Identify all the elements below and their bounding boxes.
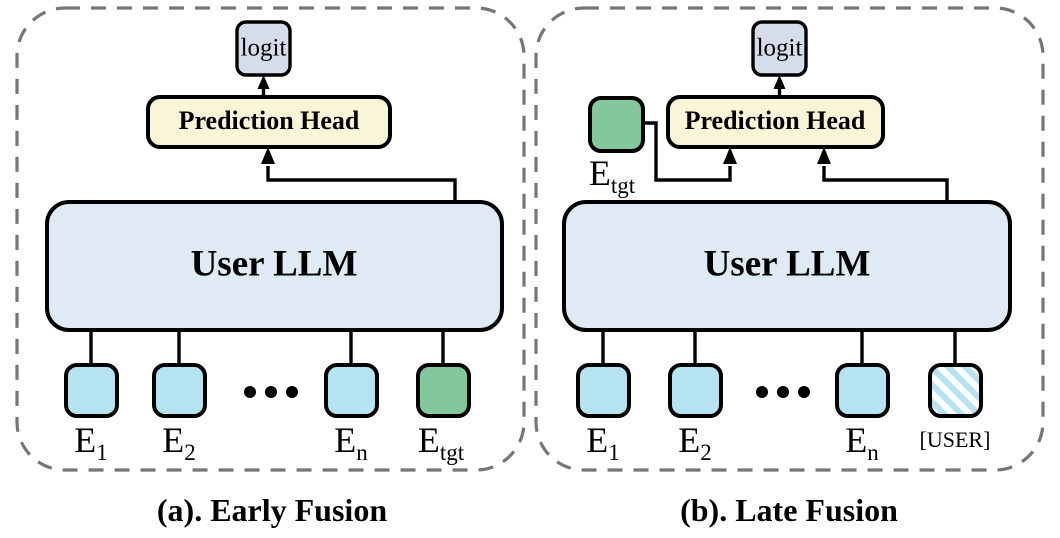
embedding-box — [154, 365, 205, 416]
panel-early-fusion: logit Prediction Head User LLM — [17, 8, 524, 528]
embedding-node-e1-late: E1 — [578, 365, 629, 465]
embedding-stems-late — [603, 330, 955, 365]
prediction-head-node-late: Prediction Head — [668, 97, 883, 147]
embedding-label: En — [334, 420, 368, 465]
ellipsis-early — [244, 386, 298, 398]
ellipsis-dot — [265, 386, 277, 398]
ellipsis-dot — [777, 386, 789, 398]
embedding-label: E1 — [74, 420, 108, 465]
ellipsis-late — [756, 386, 810, 398]
ellipsis-dot — [798, 386, 810, 398]
target-embedding-label-sub: tgt — [440, 440, 465, 465]
embedding-label-base: E — [74, 420, 96, 460]
embedding-label: E1 — [586, 420, 620, 465]
embedding-label-sub: 1 — [608, 440, 620, 465]
embedding-label-sub: n — [867, 440, 879, 465]
logit-label: logit — [241, 35, 287, 62]
logit-node-early: logit — [237, 22, 290, 75]
embedding-node-en-early: En — [326, 365, 377, 465]
embedding-label-sub: n — [356, 440, 368, 465]
embedding-label: En — [845, 420, 879, 465]
embedding-node-user-late: [USER] — [920, 365, 991, 452]
llm-node-early: User LLM — [47, 202, 502, 330]
connector-llm-to-head-late — [817, 147, 947, 205]
embedding-label-sub: 1 — [96, 440, 108, 465]
target-embedding-node-late: Etgt — [589, 98, 643, 198]
panel-caption-early: (a). Early Fusion — [157, 492, 387, 528]
llm-label: User LLM — [704, 243, 871, 284]
embedding-label-base: E — [162, 420, 184, 460]
embedding-node-en-late: En — [837, 365, 888, 465]
ellipsis-dot — [756, 386, 768, 398]
ellipsis-dot — [244, 386, 256, 398]
embedding-box — [837, 365, 888, 416]
llm-node-late: User LLM — [564, 202, 1010, 330]
prediction-head-node-early: Prediction Head — [148, 97, 390, 147]
target-embedding-label: Etgt — [589, 153, 636, 198]
embedding-stems-early — [91, 330, 443, 365]
embedding-label-base: E — [334, 420, 356, 460]
user-token-box — [930, 365, 981, 416]
embedding-node-e2-early: E2 — [154, 365, 205, 465]
embedding-label: E2 — [678, 420, 712, 465]
logit-node-late: logit — [753, 22, 806, 75]
target-embedding-label-sub: tgt — [611, 173, 636, 198]
embedding-label-base: E — [678, 420, 700, 460]
target-embedding-label-base: E — [418, 420, 440, 460]
prediction-head-label: Prediction Head — [685, 106, 866, 135]
target-embedding-label-base: E — [589, 153, 611, 193]
panel-caption-late: (b). Late Fusion — [680, 492, 898, 528]
embedding-node-e1-early: E1 — [66, 365, 117, 465]
connector-llm-to-head-early — [261, 147, 455, 205]
prediction-head-label: Prediction Head — [179, 106, 360, 135]
embedding-box — [670, 365, 721, 416]
llm-label: User LLM — [191, 243, 358, 284]
embedding-label-sub: 2 — [700, 440, 712, 465]
embedding-node-e2-late: E2 — [670, 365, 721, 465]
embedding-box — [578, 365, 629, 416]
architecture-diagram: logit Prediction Head User LLM — [0, 0, 1060, 538]
embedding-label-base: E — [845, 420, 867, 460]
user-token-label: [USER] — [920, 427, 991, 452]
embedding-box — [326, 365, 377, 416]
ellipsis-dot — [286, 386, 298, 398]
arrow-head-to-logit-late — [774, 75, 786, 97]
logit-label: logit — [757, 35, 803, 62]
target-embedding-box — [418, 365, 469, 416]
embedding-box — [66, 365, 117, 416]
arrow-head-to-logit-early — [258, 75, 270, 97]
target-embedding-label: Etgt — [418, 420, 465, 465]
panel-late-fusion: logit Etgt Prediction Head — [536, 8, 1043, 528]
target-embedding-box — [590, 98, 643, 151]
embedding-node-etgt-early: Etgt — [418, 365, 469, 465]
embedding-label-base: E — [586, 420, 608, 460]
embedding-label: E2 — [162, 420, 196, 465]
embedding-label-sub: 2 — [184, 440, 196, 465]
figure-canvas: logit Prediction Head User LLM — [0, 0, 1060, 538]
